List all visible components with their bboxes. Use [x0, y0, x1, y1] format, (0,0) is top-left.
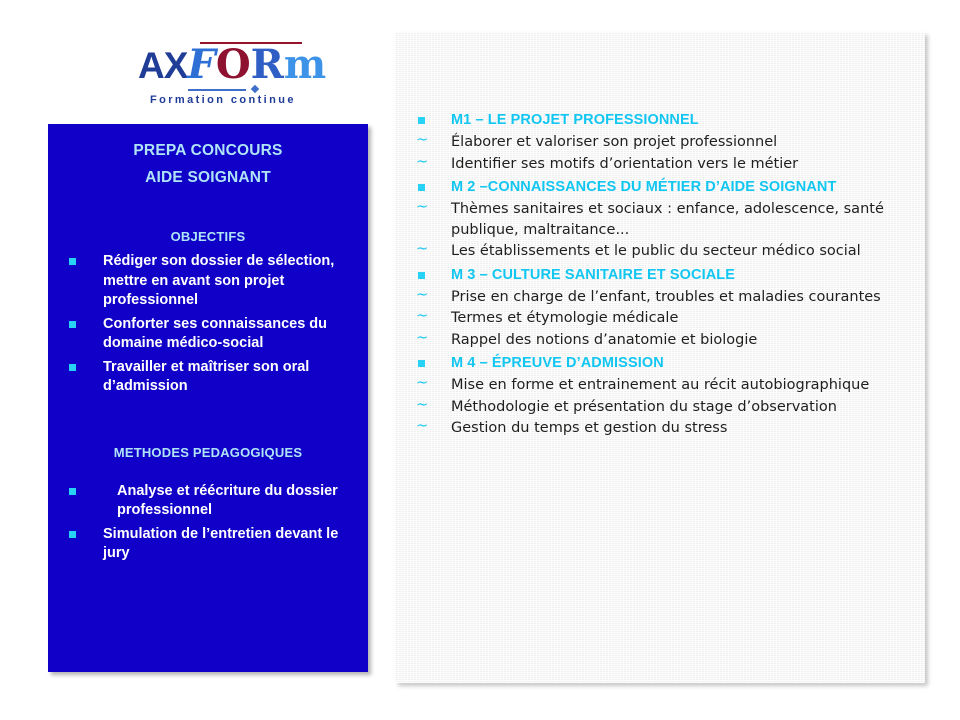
- square-bullet-icon: [418, 272, 425, 279]
- tilde-bullet-icon: ~: [416, 328, 428, 349]
- square-bullet-icon: [69, 321, 76, 328]
- module-item: M 4 – ÉPREUVE D’ADMISSION: [407, 353, 913, 374]
- objective-text: Conforter ses connaissances du domaine m…: [103, 316, 327, 352]
- tilde-bullet-icon: ~: [416, 130, 428, 151]
- square-bullet-icon: [69, 531, 76, 538]
- modules-panel: M1 – LE PROJET PROFESSIONNEL ~ Élaborer …: [395, 32, 925, 683]
- list-item: Travailler et maîtriser son oral d’admis…: [66, 358, 352, 397]
- square-bullet-icon: [418, 184, 425, 191]
- objective-text: Rédiger son dossier de sélection, mettre…: [103, 253, 334, 308]
- module-sub-list: ~ Prise en charge de l’enfant, troubles …: [407, 287, 913, 351]
- list-item: ~ Prise en charge de l’enfant, troubles …: [407, 287, 913, 308]
- list-item: ~ Élaborer et valoriser son projet profe…: [407, 132, 913, 153]
- module-sub-text: Les établissements et le public du secte…: [451, 243, 861, 259]
- square-bullet-icon: [418, 360, 425, 367]
- square-bullet-icon: [69, 364, 76, 371]
- list-item: ~ Rappel des notions d’anatomie et biolo…: [407, 330, 913, 351]
- list-item: ~ Les établissements et le public du sec…: [407, 241, 913, 262]
- list-item: ~ Identifier ses motifs d’orientation ve…: [407, 154, 913, 175]
- list-item: ~ Gestion du temps et gestion du stress: [407, 418, 913, 439]
- logo-text-m: m: [284, 41, 326, 88]
- square-bullet-icon: [418, 117, 425, 124]
- module-title: M 4 – ÉPREUVE D’ADMISSION: [451, 353, 913, 374]
- module-item: M1 – LE PROJET PROFESSIONNEL: [407, 110, 913, 131]
- module-sub-text: Méthodologie et présentation du stage d’…: [451, 399, 837, 415]
- method-text: Simulation de l’entretien devant le jury: [103, 526, 338, 562]
- module-sub-list: ~ Mise en forme et entrainement au récit…: [407, 375, 913, 439]
- logo-text-r: R: [251, 41, 284, 88]
- module-sub-list: ~ Thèmes sanitaires et sociaux : enfance…: [407, 199, 913, 262]
- modules-list: M1 – LE PROJET PROFESSIONNEL ~ Élaborer …: [407, 110, 913, 439]
- module-sub-text: Termes et étymologie médicale: [451, 310, 678, 326]
- module-item: M 2 –CONNAISSANCES DU MÉTIER D’AIDE SOIG…: [407, 177, 913, 198]
- module-sub-list: ~ Élaborer et valoriser son projet profe…: [407, 132, 913, 174]
- logo-text-o: O: [216, 41, 251, 88]
- module-title: M 2 –CONNAISSANCES DU MÉTIER D’AIDE SOIG…: [451, 177, 913, 198]
- module-sub-text: Mise en forme et entrainement au récit a…: [451, 377, 869, 393]
- axform-logo: AXFORm Formation continue: [138, 36, 308, 108]
- tilde-bullet-icon: ~: [416, 416, 428, 437]
- tilde-bullet-icon: ~: [416, 285, 428, 306]
- logo-wordmark: AXFORm: [138, 45, 326, 86]
- tilde-bullet-icon: ~: [416, 239, 428, 260]
- tilde-bullet-icon: ~: [416, 395, 428, 416]
- list-item: Analyse et réécriture du dossier profess…: [66, 482, 352, 521]
- tilde-bullet-icon: ~: [416, 152, 428, 173]
- tilde-bullet-icon: ~: [416, 373, 428, 394]
- module-sub-text: Prise en charge de l’enfant, troubles et…: [451, 289, 881, 305]
- course-title-line2: AIDE SOIGNANT: [48, 169, 368, 187]
- objectives-heading: OBJECTIFS: [48, 229, 368, 244]
- list-item: Rédiger son dossier de sélection, mettre…: [66, 252, 352, 311]
- objectives-list: Rédiger son dossier de sélection, mettre…: [48, 252, 368, 397]
- list-item: ~ Thèmes sanitaires et sociaux : enfance…: [407, 199, 913, 240]
- square-bullet-icon: [69, 488, 76, 495]
- methods-heading: METHODES PEDAGOGIQUES: [48, 445, 368, 460]
- list-item: ~ Termes et étymologie médicale: [407, 308, 913, 329]
- module-sub-text: Rappel des notions d’anatomie et biologi…: [451, 332, 757, 348]
- module-sub-text: Identifier ses motifs d’orientation vers…: [451, 156, 798, 172]
- module-sub-text: Gestion du temps et gestion du stress: [451, 420, 727, 436]
- list-item: Simulation de l’entretien devant le jury: [66, 525, 352, 564]
- tilde-bullet-icon: ~: [416, 197, 428, 218]
- list-item: ~ Mise en forme et entrainement au récit…: [407, 375, 913, 396]
- list-item: Conforter ses connaissances du domaine m…: [66, 315, 352, 354]
- list-item: ~ Méthodologie et présentation du stage …: [407, 397, 913, 418]
- logo-tagline: Formation continue: [150, 94, 296, 106]
- objective-text: Travailler et maîtriser son oral d’admis…: [103, 359, 309, 395]
- logo-text-f: F: [187, 41, 215, 88]
- method-text: Analyse et réécriture du dossier profess…: [117, 483, 338, 519]
- logo-text-ax: AX: [138, 45, 187, 86]
- module-item: M 3 – CULTURE SANITAIRE ET SOCIALE: [407, 265, 913, 286]
- square-bullet-icon: [69, 258, 76, 265]
- module-title: M1 – LE PROJET PROFESSIONNEL: [451, 110, 913, 131]
- logo-bottom-rule: [188, 89, 246, 91]
- course-summary-panel: PREPA CONCOURS AIDE SOIGNANT OBJECTIFS R…: [48, 124, 368, 672]
- module-sub-text: Thèmes sanitaires et sociaux : enfance, …: [451, 201, 884, 238]
- module-title: M 3 – CULTURE SANITAIRE ET SOCIALE: [451, 265, 913, 286]
- tilde-bullet-icon: ~: [416, 306, 428, 327]
- methods-list: Analyse et réécriture du dossier profess…: [48, 482, 368, 564]
- course-title-line1: PREPA CONCOURS: [48, 142, 368, 160]
- module-sub-text: Élaborer et valoriser son projet profess…: [451, 134, 777, 150]
